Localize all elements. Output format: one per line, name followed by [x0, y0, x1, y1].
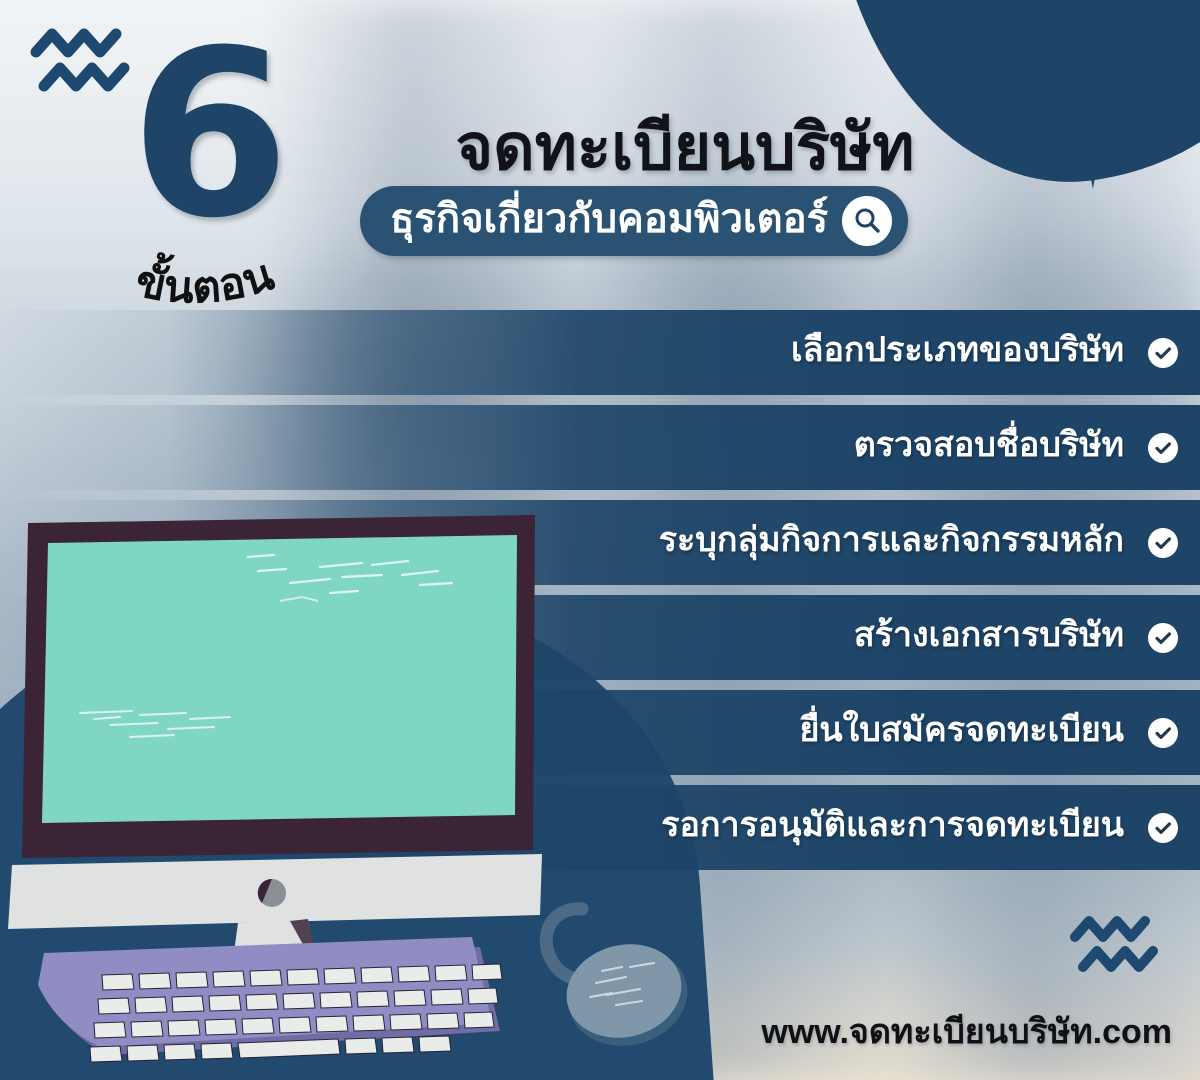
step-word-text: ขั้นตอน [132, 248, 280, 313]
step-label: สร้างเอกสารบริษัท [854, 618, 1124, 657]
svg-text:ขั้นตอน: ขั้นตอน [132, 248, 280, 313]
page-title: จดทะเบียนบริษัท [355, 96, 1015, 198]
check-circle-icon [1148, 433, 1178, 463]
infographic-poster: 6 ขั้นตอน จดทะเบียนบริษัท ธุรกิจเกี่ยวกั… [0, 0, 1200, 1080]
step-label: ระบุกลุ่มกิจการและกิจกรรมหลัก [659, 523, 1124, 562]
subtitle-pill: ธุรกิจเกี่ยวกับคอมพิวเตอร์ [360, 186, 908, 256]
step-label: ตรวจสอบชื่อบริษัท [854, 428, 1124, 467]
check-circle-icon [1148, 623, 1178, 653]
list-item[interactable]: เลือกประเภทของบริษัท [0, 310, 1200, 395]
check-circle-icon [1148, 813, 1178, 843]
step-label: รอการอนุมัติและการจดทะเบียน [661, 808, 1124, 847]
step-word-label: ขั้นตอน [74, 240, 334, 320]
subtitle-label: ธุรกิจเกี่ยวกับคอมพิวเตอร์ [390, 199, 828, 243]
check-circle-icon [1148, 718, 1178, 748]
step-label: เลือกประเภทของบริษัท [791, 333, 1124, 372]
step-label: ยื่นใบสมัครจดทะเบียน [799, 713, 1124, 752]
check-circle-icon [1148, 338, 1178, 368]
footer-website-url[interactable]: www.จดทะเบียนบริษัท.com [761, 1004, 1172, 1058]
four-point-star-icon [1050, 105, 1136, 191]
step-count-number: 6 [130, 38, 282, 234]
check-circle-icon [1148, 528, 1178, 558]
desktop-computer-illustration [0, 505, 710, 1080]
search-icon[interactable] [842, 196, 892, 246]
list-item[interactable]: ตรวจสอบชื่อบริษัท [0, 405, 1200, 490]
aquarius-wave-icon [30, 28, 130, 94]
aquarius-wave-icon [1070, 916, 1158, 974]
